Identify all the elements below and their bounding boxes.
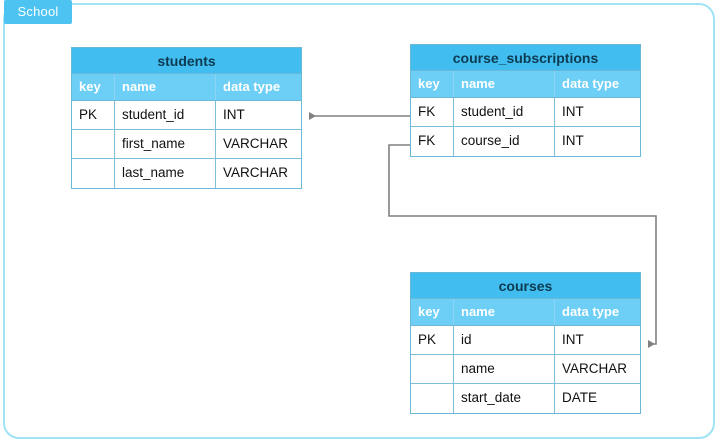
table-row[interactable]: FK student_id INT: [411, 98, 640, 127]
row-data-type: VARCHAR: [554, 355, 640, 383]
row-key: [72, 130, 114, 158]
column-header-key: key: [411, 299, 453, 325]
row-name: student_id: [114, 101, 215, 129]
entity-title-course-subscriptions: course_subscriptions: [411, 45, 640, 71]
row-key: [411, 355, 453, 383]
column-header-data-type: data type: [554, 71, 640, 97]
entity-title-courses: courses: [411, 273, 640, 299]
entity-column-headers: key name data type: [411, 71, 640, 98]
table-row[interactable]: start_date DATE: [411, 384, 640, 413]
row-key: FK: [411, 98, 453, 126]
entity-table-courses[interactable]: courses key name data type PK id INT nam…: [410, 272, 641, 414]
schema-tab-school[interactable]: School: [4, 0, 72, 24]
row-key: PK: [411, 326, 453, 354]
row-name: student_id: [453, 98, 554, 126]
row-name: course_id: [453, 127, 554, 156]
column-header-data-type: data type: [215, 74, 301, 100]
row-data-type: INT: [554, 98, 640, 126]
row-name: start_date: [453, 384, 554, 413]
column-header-key: key: [72, 74, 114, 100]
table-row[interactable]: last_name VARCHAR: [72, 159, 301, 188]
table-row[interactable]: PK id INT: [411, 326, 640, 355]
column-header-data-type: data type: [554, 299, 640, 325]
row-key: FK: [411, 127, 453, 156]
row-name: id: [453, 326, 554, 354]
column-header-key: key: [411, 71, 453, 97]
column-header-name: name: [453, 71, 554, 97]
table-row[interactable]: PK student_id INT: [72, 101, 301, 130]
entity-column-headers: key name data type: [411, 299, 640, 326]
row-key: PK: [72, 101, 114, 129]
row-data-type: INT: [215, 101, 301, 129]
entity-table-course-subscriptions[interactable]: course_subscriptions key name data type …: [410, 44, 641, 157]
row-data-type: INT: [554, 127, 640, 156]
row-key: [72, 159, 114, 188]
entity-title-students: students: [72, 48, 301, 74]
row-name: last_name: [114, 159, 215, 188]
row-key: [411, 384, 453, 413]
table-row[interactable]: FK course_id INT: [411, 127, 640, 156]
row-name: name: [453, 355, 554, 383]
table-row[interactable]: first_name VARCHAR: [72, 130, 301, 159]
entity-table-students[interactable]: students key name data type PK student_i…: [71, 47, 302, 189]
table-row[interactable]: name VARCHAR: [411, 355, 640, 384]
er-diagram-canvas: School students key name data type PK st…: [0, 0, 720, 444]
entity-column-headers: key name data type: [72, 74, 301, 101]
row-name: first_name: [114, 130, 215, 158]
row-data-type: INT: [554, 326, 640, 354]
row-data-type: VARCHAR: [215, 159, 301, 188]
column-header-name: name: [114, 74, 215, 100]
column-header-name: name: [453, 299, 554, 325]
row-data-type: DATE: [554, 384, 640, 413]
row-data-type: VARCHAR: [215, 130, 301, 158]
